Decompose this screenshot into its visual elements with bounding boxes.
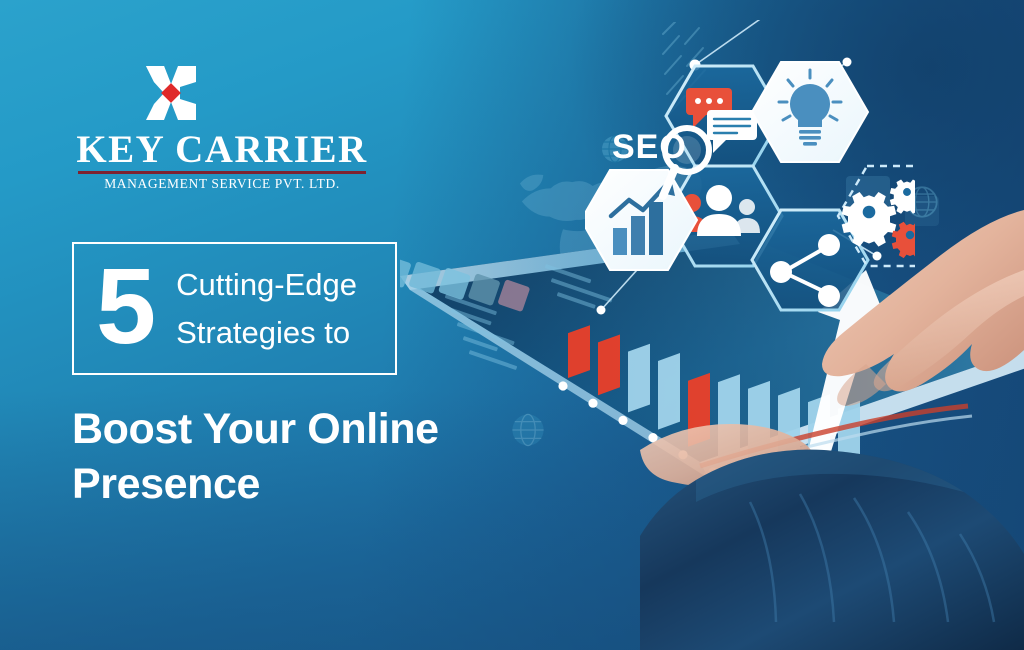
headline-box: 5 Cutting-Edge Strategies to bbox=[72, 242, 397, 375]
headline-text: Cutting-Edge Strategies to bbox=[176, 261, 357, 355]
subheadline-line-1: Boost Your Online bbox=[72, 402, 439, 457]
chart-trend-dot bbox=[558, 381, 567, 390]
logo-company-name: KEY CARRIER bbox=[72, 130, 372, 169]
chart-trend-dot bbox=[588, 399, 597, 408]
hex-lightbulb bbox=[752, 62, 868, 162]
pointing-finger-hand bbox=[822, 210, 1024, 406]
brand-logo[interactable]: KEY CARRIER MANAGEMENT SERVICE PVT. LTD. bbox=[72, 62, 372, 192]
key-carrier-butterfly-mark-icon bbox=[140, 62, 202, 124]
marketing-banner: KEY CARRIER MANAGEMENT SERVICE PVT. LTD.… bbox=[0, 0, 1024, 650]
logo-tagline: MANAGEMENT SERVICE PVT. LTD. bbox=[72, 176, 372, 192]
chart-trend-dot bbox=[618, 416, 627, 425]
headline-number: 5 bbox=[96, 261, 154, 352]
headline-line-1: Cutting-Edge bbox=[176, 261, 357, 308]
shirt-sleeve bbox=[640, 450, 1024, 650]
logo-divider-rule bbox=[78, 171, 366, 174]
subheadline: Boost Your Online Presence bbox=[72, 402, 439, 512]
headline-line-2: Strategies to bbox=[176, 309, 357, 356]
hand-and-arm-graphic bbox=[640, 150, 1024, 650]
subheadline-line-2: Presence bbox=[72, 457, 439, 512]
